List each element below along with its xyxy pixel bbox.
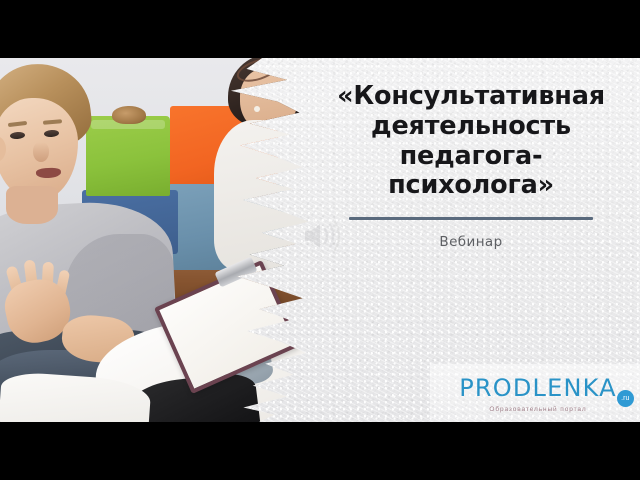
- title-line-3: педагога-: [400, 141, 543, 171]
- title-line-4: психолога»: [388, 170, 554, 200]
- letterbox-bar-bottom: [0, 422, 640, 480]
- speaker-volume-icon: [302, 220, 340, 252]
- logo-wordmark-text: PRODLENKA: [459, 374, 617, 402]
- toy-in-box: [112, 106, 146, 124]
- boy-neck: [6, 186, 58, 224]
- video-player-stage: «Консультативнаядеятельностьпедагога-пси…: [0, 0, 640, 480]
- slide-subtitle: Вебинар: [318, 234, 624, 250]
- logo-domain-badge: .ru: [617, 390, 634, 407]
- page-title: «Консультативнаядеятельностьпедагога-пси…: [318, 82, 624, 201]
- title-line-1: «Консультативная: [337, 81, 605, 111]
- title-line-2: деятельность: [371, 111, 571, 141]
- psychologist-earring: [254, 106, 260, 112]
- prodlenka-logo: PRODLENKA.ru Образовательный портал: [452, 376, 624, 413]
- letterbox-bar-top: [0, 0, 640, 58]
- slide-photograph: [0, 58, 312, 422]
- title-divider: [349, 217, 593, 220]
- storage-box-green: [86, 116, 170, 196]
- logo-wordmark: PRODLENKA.ru: [459, 376, 617, 400]
- boy-nose: [33, 142, 49, 162]
- logo-tagline: Образовательный портал: [452, 406, 624, 413]
- presentation-slide: «Консультативнаядеятельностьпедагога-пси…: [0, 58, 640, 422]
- slide-title-block: «Консультативнаядеятельностьпедагога-пси…: [318, 82, 624, 250]
